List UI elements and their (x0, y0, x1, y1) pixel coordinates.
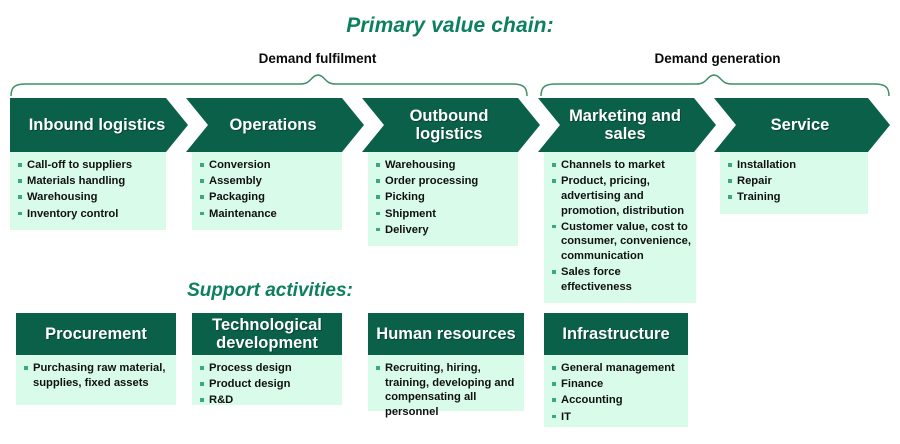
list-item: Delivery (374, 223, 514, 238)
list-item: Accounting (550, 393, 684, 408)
stage-body-service: Installation Repair Training (720, 152, 868, 214)
brace-demand-generation (541, 75, 889, 96)
list-item: Installation (726, 158, 864, 173)
list-item: Customer value, cost to consumer, conven… (550, 220, 692, 264)
support-technological-development[interactable]: Technological development Process design… (192, 313, 342, 405)
bullet-list: Conversion Assembly Packaging Maintenanc… (198, 158, 338, 221)
list-item: Product, pricing, advertising and promot… (550, 174, 692, 218)
page-title: Primary value chain: (0, 14, 900, 38)
stage-header-operations: Operations (186, 98, 364, 152)
list-item: IT (550, 410, 684, 425)
stage-body-outbound-logistics: Warehousing Order processing Picking Shi… (368, 152, 518, 246)
list-item: Materials handling (16, 174, 162, 189)
stage-header-marketing-and-sales: Marketing and sales (538, 98, 716, 152)
list-item: R&D (198, 393, 338, 408)
list-item: Order processing (374, 174, 514, 189)
bullet-list: Channels to market Product, pricing, adv… (550, 158, 692, 295)
stage-marketing-and-sales[interactable]: Marketing and sales Channels to market P… (538, 98, 716, 303)
brace-label-demand-fulfilment: Demand fulfilment (90, 51, 545, 66)
list-item: Recruiting, hiring, training, developing… (374, 361, 520, 420)
list-item: Sales force effectiveness (550, 265, 692, 294)
stage-header-service: Service (714, 98, 890, 152)
bullet-list: Recruiting, hiring, training, developing… (374, 361, 520, 420)
support-body-human-resources: Recruiting, hiring, training, developing… (368, 355, 524, 411)
list-item: Picking (374, 190, 514, 205)
stage-inbound-logistics[interactable]: Inbound logistics Call-off to suppliers … (10, 98, 188, 230)
support-header-infrastructure: Infrastructure (544, 313, 688, 355)
support-header-human-resources: Human resources (368, 313, 524, 355)
stage-body-operations: Conversion Assembly Packaging Maintenanc… (192, 152, 342, 230)
list-item: Maintenance (198, 207, 338, 222)
list-item: Assembly (198, 174, 338, 189)
bullet-list: Installation Repair Training (726, 158, 864, 205)
list-item: Call-off to suppliers (16, 158, 162, 173)
support-body-infrastructure: General management Finance Accounting IT (544, 355, 688, 427)
support-header-procurement: Procurement (16, 313, 176, 355)
brace-demand-fulfilment (11, 75, 527, 96)
list-item: Repair (726, 174, 864, 189)
bullet-list: Purchasing raw material, supplies, fixed… (22, 361, 172, 390)
list-item: Purchasing raw material, supplies, fixed… (22, 361, 172, 390)
list-item: Warehousing (374, 158, 514, 173)
support-activities-title: Support activities: (110, 280, 430, 302)
brace-label-demand-generation: Demand generation (545, 51, 890, 66)
support-header-technological-development: Technological development (192, 313, 342, 355)
list-item: Process design (198, 361, 338, 376)
list-item: Finance (550, 377, 684, 392)
stage-body-marketing-and-sales: Channels to market Product, pricing, adv… (544, 152, 696, 303)
list-item: Conversion (198, 158, 338, 173)
support-human-resources[interactable]: Human resources Recruiting, hiring, trai… (368, 313, 524, 411)
bullet-list: General management Finance Accounting IT (550, 361, 684, 424)
list-item: Training (726, 190, 864, 205)
stage-body-inbound-logistics: Call-off to suppliers Materials handling… (10, 152, 166, 230)
list-item: Packaging (198, 190, 338, 205)
support-body-technological-development: Process design Product design R&D (192, 355, 342, 405)
support-procurement[interactable]: Procurement Purchasing raw material, sup… (16, 313, 176, 405)
list-item: Warehousing (16, 190, 162, 205)
stage-header-inbound-logistics: Inbound logistics (10, 98, 188, 152)
stage-header-outbound-logistics: Outbound logistics (362, 98, 540, 152)
support-infrastructure[interactable]: Infrastructure General management Financ… (544, 313, 688, 427)
list-item: Shipment (374, 207, 514, 222)
stage-operations[interactable]: Operations Conversion Assembly Packaging… (186, 98, 364, 230)
support-body-procurement: Purchasing raw material, supplies, fixed… (16, 355, 176, 405)
stage-outbound-logistics[interactable]: Outbound logistics Warehousing Order pro… (362, 98, 540, 246)
value-chain-diagram: Primary value chain: Demand fulfilment D… (0, 0, 900, 444)
stage-service[interactable]: Service Installation Repair Training (714, 98, 890, 214)
bullet-list: Process design Product design R&D (198, 361, 338, 408)
bullet-list: Call-off to suppliers Materials handling… (16, 158, 162, 221)
list-item: General management (550, 361, 684, 376)
list-item: Product design (198, 377, 338, 392)
bullet-list: Warehousing Order processing Picking Shi… (374, 158, 514, 237)
list-item: Inventory control (16, 207, 162, 222)
list-item: Channels to market (550, 158, 692, 173)
